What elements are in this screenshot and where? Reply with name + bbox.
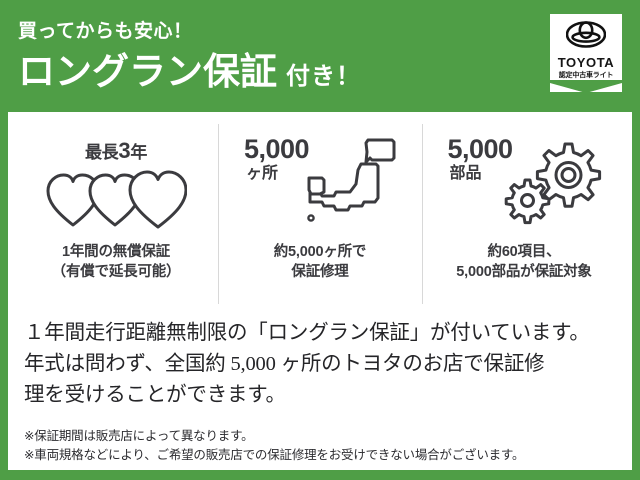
headline-main: ロングラン保証 [18,53,277,90]
description-line-3: 理を受けることができます。 [24,380,618,411]
description-line-1: １年間走行距離無制限の「ロングラン保証」が付いています。 [24,318,618,349]
hearts-label: 最長3年 [85,138,147,164]
feature-caption-line1: 約5,000ヶ所で [274,244,367,260]
feature-warranty-duration: 最長3年 1年間の無償保証 （有償で延長可能） [14,118,218,308]
toyota-logo-badge: TOYOTA 認定中古車ライト [550,14,622,96]
feature-caption-line1: 約60項目、 [488,244,561,260]
gears-unit: 部品 [450,166,482,182]
japan-map-art: 5,000 ヶ所 [240,134,400,238]
headline-suffix: 付き！ [286,65,361,89]
feature-caption-line2: 5,000部品が保証対象 [456,264,591,280]
headline-row: ロングラン保証 付き！ [18,53,640,90]
feature-covered-parts: 5,000 部品 [422,118,626,308]
hearts-label-suffix: 年 [130,143,147,162]
map-unit: ヶ所 [246,166,278,182]
japan-map-icon [306,136,398,236]
ad-header: 買ってからも安心！ ロングラン保証 付き！ TOYOTA 認定中古車ライト [0,0,640,112]
ad-body: 最長3年 1年間の無償保証 （有償で延長可能） [8,112,632,470]
gears-art: 5,000 部品 [442,134,607,238]
feature-caption-line2: （有償で延長可能） [52,264,181,280]
feature-caption: 約60項目、 5,000部品が保証対象 [456,242,591,282]
header-kicker: 買ってからも安心！ [18,22,640,41]
description-line-2: 年式は問わず、全国約 5,000 ヶ所のトヨタのお店で保証修 [24,349,618,380]
feature-art: 5,000 部品 [422,130,626,242]
footnotes: ※保証期間は販売店によって異なります。 ※車両規格などにより、ご希望の販売店での… [8,427,632,470]
toyota-logo-subtext: 認定中古車ライト [559,72,613,79]
footnote-1: ※保証期間は販売店によって異なります。 [24,427,622,446]
feature-caption: 約5,000ヶ所で 保証修理 [274,242,367,282]
feature-art: 最長3年 [14,130,218,242]
hearts-label-number: 3 [118,138,130,163]
feature-service-locations: 5,000 ヶ所 [218,118,422,308]
feature-columns: 最長3年 1年間の無償保証 （有償で延長可能） [8,118,632,308]
toyota-longrun-warranty-ad: 買ってからも安心！ ロングラン保証 付き！ TOYOTA 認定中古車ライト [0,0,640,480]
feature-caption-line1: 1年間の無償保証 [62,244,170,260]
toyota-emblem-icon [566,21,606,53]
hearts-label-prefix: 最長 [85,143,118,162]
map-dot [308,215,313,220]
three-hearts-icon [45,168,187,230]
footnote-2: ※車両規格などにより、ご希望の販売店での保証修理をお受けできない場合がございます… [24,446,622,465]
map-number: 5,000 [244,136,309,163]
gears-icon [499,138,603,234]
logo-chevron-shape [550,80,622,96]
feature-art: 5,000 ヶ所 [218,130,422,242]
toyota-wordmark: TOYOTA [558,56,615,69]
warranty-description: １年間走行距離無制限の「ロングラン保証」が付いています。 年式は問わず、全国約 … [8,308,632,411]
feature-caption: 1年間の無償保証 （有償で延長可能） [52,242,181,282]
three-hearts-art: 最長3年 [41,134,191,238]
feature-caption-line2: 保証修理 [291,264,348,280]
